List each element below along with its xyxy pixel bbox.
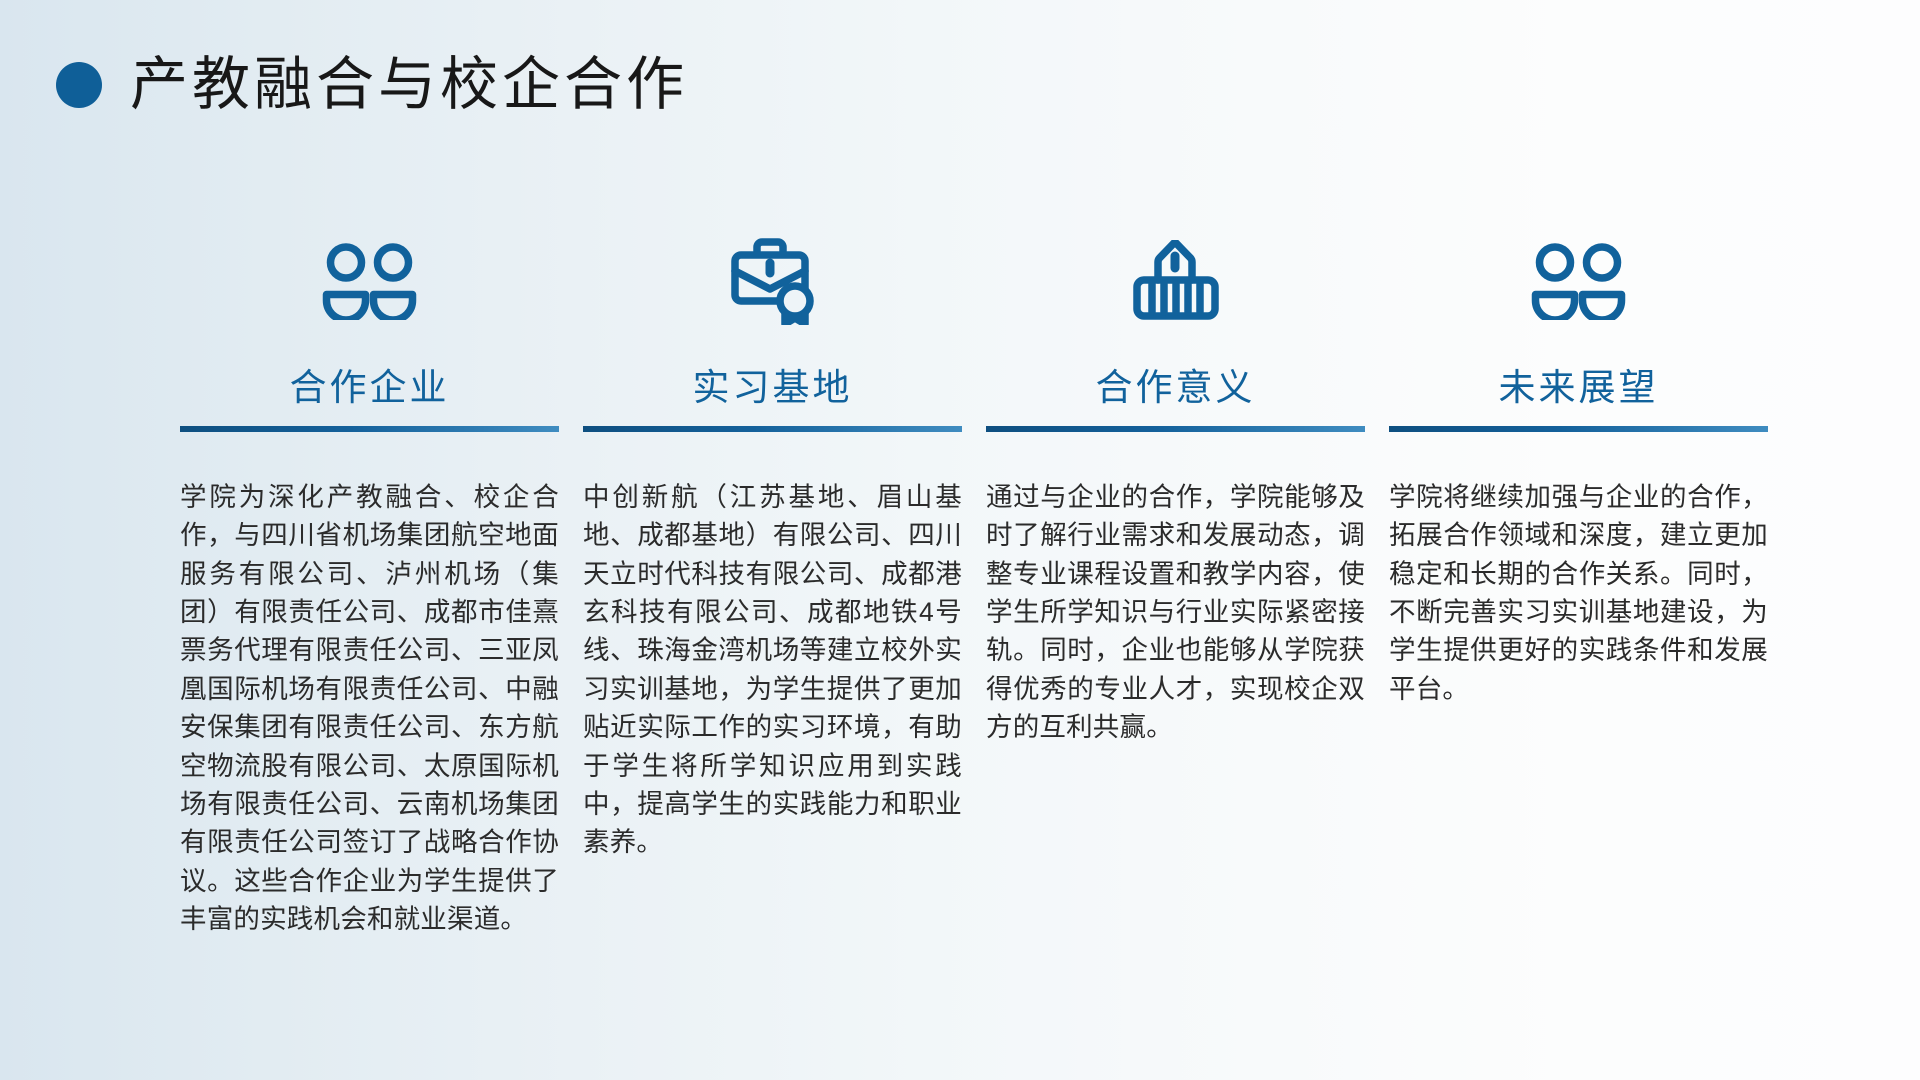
column-title: 未来展望 — [1499, 369, 1659, 410]
column-internship-bases: 实习基地 中创新航（江苏基地、眉山基地、成都基地）有限公司、四川天立时代科技有限… — [571, 235, 974, 939]
column-cooperative-enterprises: 合作企业 学院为深化产教融合、校企合作，与四川省机场集团航空地面服务有限公司、泸… — [168, 235, 571, 939]
column-body-text: 中创新航（江苏基地、眉山基地、成都基地）有限公司、四川天立时代科技有限公司、成都… — [583, 478, 962, 862]
two-people-icon — [320, 235, 420, 327]
column-divider — [583, 426, 962, 432]
column-container: 合作企业 学院为深化产教融合、校企合作，与四川省机场集团航空地面服务有限公司、泸… — [168, 235, 1780, 939]
column-title: 合作意义 — [1096, 369, 1256, 410]
column-divider — [1389, 426, 1768, 432]
briefcase-badge-icon — [727, 235, 819, 327]
column-divider — [180, 426, 559, 432]
institution-building-icon — [1130, 235, 1222, 327]
slide-header: 产教融合与校企合作 — [56, 56, 688, 114]
column-body-text: 学院将继续加强与企业的合作，拓展合作领域和深度，建立更加稳定和长期的合作关系。同… — [1389, 478, 1768, 709]
column-future-outlook: 未来展望 学院将继续加强与企业的合作，拓展合作领域和深度，建立更加稳定和长期的合… — [1377, 235, 1780, 939]
filled-circle-bullet-icon — [56, 62, 102, 108]
column-title: 合作企业 — [290, 369, 450, 410]
column-body-text: 通过与企业的合作，学院能够及时了解行业需求和发展动态，调整专业课程设置和教学内容… — [986, 478, 1365, 747]
column-cooperation-significance: 合作意义 通过与企业的合作，学院能够及时了解行业需求和发展动态，调整专业课程设置… — [974, 235, 1377, 939]
column-title: 实习基地 — [693, 369, 853, 410]
column-divider — [986, 426, 1365, 432]
two-people-icon — [1529, 235, 1629, 327]
page-title: 产教融合与校企合作 — [130, 56, 688, 114]
column-body-text: 学院为深化产教融合、校企合作，与四川省机场集团航空地面服务有限公司、泸州机场（集… — [180, 478, 559, 939]
slide-root: 产教融合与校企合作 合作企业 学院为深化产教融合、校企合作，与四川省机场集团航空… — [0, 0, 1920, 1080]
